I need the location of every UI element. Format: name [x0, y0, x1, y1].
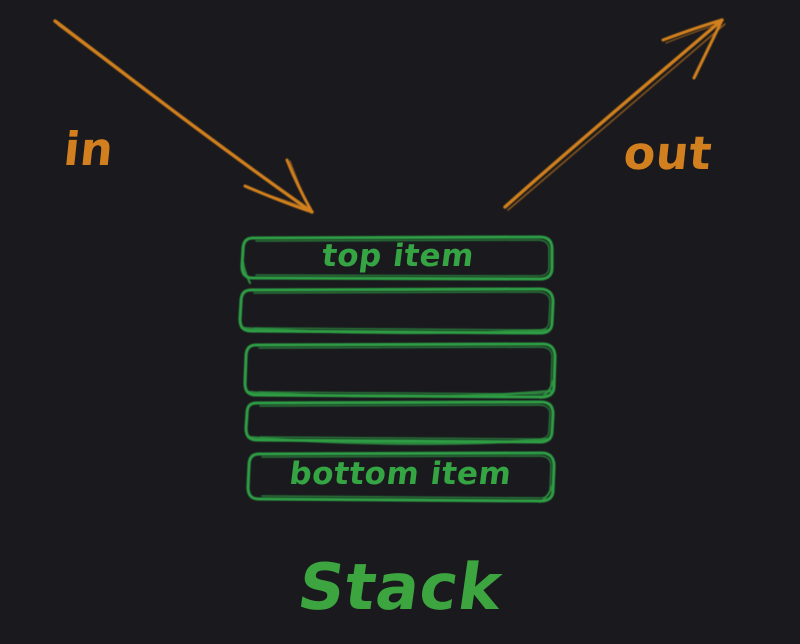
in-arrow: [55, 21, 312, 212]
in-arrow-shaft: [55, 21, 312, 212]
stack-item-2-outline: [240, 289, 553, 333]
stack-item-3[interactable]: [245, 344, 555, 398]
stack-diagram-canvas: in out top item bottom item Stack: [0, 0, 800, 644]
stack-item-4-outline-echo: [260, 405, 550, 439]
stack-item-3-outline-echo: [259, 347, 552, 394]
out-arrow-shaft-echo: [508, 24, 725, 210]
in-arrow-label: in: [62, 126, 116, 172]
stack-item-bottom-label: bottom item: [246, 459, 555, 490]
stack-item-3-outline: [245, 344, 555, 397]
stack-item-2-outline-echo: [254, 292, 550, 330]
diagram-title: Stack: [0, 556, 800, 620]
stack-item-4[interactable]: [246, 402, 553, 444]
stack-item-4-outline: [246, 402, 553, 442]
stack-item-2[interactable]: [240, 289, 553, 333]
out-arrow: [505, 20, 725, 210]
diagram-vector-layer: [0, 0, 800, 644]
out-arrow-label: out: [622, 130, 715, 176]
stack-item-top-label: top item: [241, 241, 555, 272]
